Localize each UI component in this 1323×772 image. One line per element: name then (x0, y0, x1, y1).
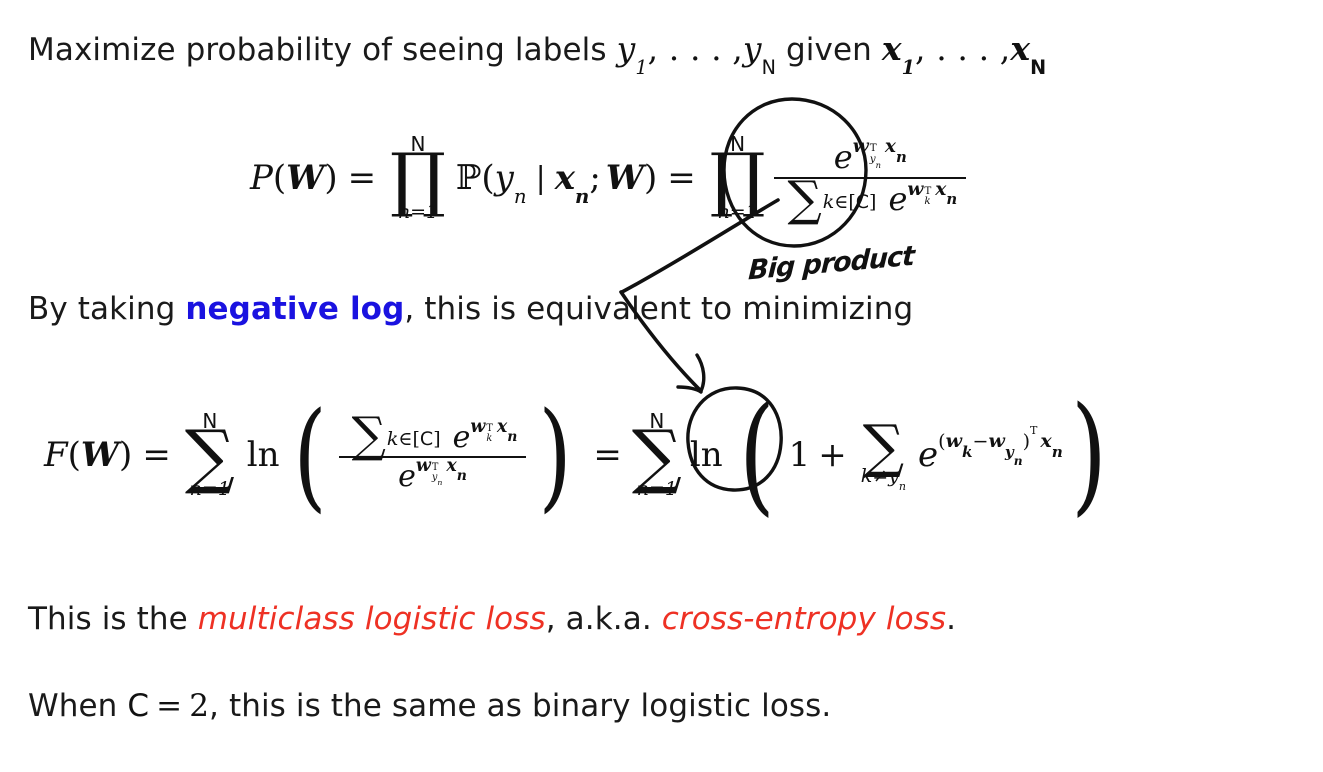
x-den2: xn (446, 456, 467, 476)
w-sub-sup-num: Tyn (870, 143, 881, 164)
x-num2: xn (497, 417, 518, 437)
w-index-yn2: yn (432, 473, 443, 483)
handwritten-note-big-product: Big product (747, 241, 914, 287)
sum-index-num2: k∈[C] (387, 430, 441, 449)
formula1-rparen-1: ) (324, 158, 337, 198)
exp-arg-final: (wk−wyn)Txn (938, 437, 1063, 452)
sum-lower-limit-2: n=1 (637, 480, 677, 499)
formula1-W-2: W (606, 158, 644, 198)
ln-operator-2: ln (690, 435, 723, 475)
w-k-final: wk (946, 430, 973, 452)
x-num: xn (885, 136, 907, 157)
product-lower-limit-2: n=1 (717, 203, 757, 222)
sub-yn-final: yn (1005, 443, 1023, 461)
formula1-semicolon: ; (589, 158, 600, 198)
value-two: 2 (189, 688, 209, 724)
sym-y1: y1 (617, 29, 648, 68)
formula-likelihood: P ( W ) = N ∏ n=1 ℙ ( yn | xn ; W ) = N … (250, 118, 971, 238)
formula2-lparen-1: ( (68, 435, 81, 475)
line2-text-pre: By taking (28, 291, 185, 327)
big-lparen-1: ( (293, 420, 326, 491)
emphasis-negative-log: negative log (185, 291, 404, 327)
slide-canvas: Maximize probability of seeing labels y1… (0, 0, 1323, 772)
formula1-lhs-P: P (250, 158, 273, 198)
formula-multiclass-logistic-loss: F ( W ) = N ∑ n=1 ln ( ∑ k∈[C] ewTkxn ew… (44, 395, 1115, 515)
constant-one: 1 (789, 435, 811, 475)
softmax-fraction: ewTynxn ∑ k∈[C] ewTkxn (774, 137, 966, 219)
line-loss-names: This is the multiclass logistic loss, a.… (28, 602, 956, 638)
line4-condition: C=2 (127, 688, 209, 724)
sum-operator-1: N ∑ n=1 (185, 411, 235, 500)
product-glyph-2: ∏ (710, 152, 766, 207)
formula1-equals-1: = (348, 158, 377, 198)
line3-text-pre: This is the (28, 601, 198, 637)
log-ratio-denominator: ewTynxn (389, 458, 476, 495)
x-den: xn (935, 179, 957, 200)
exp-arg-den2: wTynxn (416, 464, 467, 484)
formula2-equals-2: = (593, 435, 622, 475)
formula1-rparen-2: ) (644, 158, 657, 198)
w-sub-sup-den: Tk (924, 186, 931, 207)
x-final: xn (1040, 430, 1062, 452)
inner-sum-glyph: ∑ (863, 424, 904, 469)
sym-x1: x1 (882, 29, 915, 68)
product-operator-1: N ∏ n=1 (390, 134, 446, 223)
formula1-lparen-1: ( (273, 158, 286, 198)
line-binary-case: When C=2, this is the same as binary log… (28, 689, 831, 725)
ln-operator-1: ln (247, 435, 280, 475)
line3-text-end: . (946, 601, 956, 637)
plus-sign: + (818, 435, 847, 475)
exp-base-final: e (918, 435, 938, 475)
sum-glyph-num2: ∑ (352, 416, 386, 454)
line1-text-mid: given (776, 32, 882, 68)
exp-arg-num2: wTkxn (470, 425, 517, 445)
formula2-lhs-F: F (44, 435, 68, 475)
exp-arg-num: wTynxn (853, 144, 907, 165)
formula1-equals-2: = (667, 158, 696, 198)
formula2-W-1: W (81, 435, 119, 475)
sym-xN: xN (1010, 29, 1046, 68)
exp-base-den2: e (398, 459, 416, 494)
formula2-equals-1: = (142, 435, 171, 475)
sum-glyph-den: ∑ (787, 180, 821, 218)
sym-dots-y: , . . . , (648, 29, 743, 68)
softmax-denominator: ∑ k∈[C] ewTkxn (774, 179, 966, 219)
ink-annotation-layer (0, 0, 1323, 772)
line4-text-post: , this is the same as binary logistic lo… (209, 688, 831, 724)
formula1-lparen-2: ( (481, 158, 494, 198)
sym-yN: yN (743, 29, 776, 68)
sum-operator-2: N ∑ n=1 (632, 411, 682, 500)
numerator-sum-operator: ∑ k∈[C] (352, 416, 441, 454)
sum-glyph-2: ∑ (632, 429, 682, 484)
big-rparen-1: ) (539, 420, 572, 491)
sum-lower-limit-1: n=1 (190, 480, 230, 499)
product-operator-2: N ∏ n=1 (710, 134, 766, 223)
inner-sum-operator: ∑ k≠yn (861, 424, 906, 485)
sym-xn-1: xn (555, 158, 590, 198)
formula2-rparen-1: ) (119, 435, 132, 475)
line1-text-pre: Maximize probability of seeing labels (28, 32, 617, 68)
line-negative-log: By taking negative log, this is equivale… (28, 292, 913, 328)
sym-yn-1: yn (495, 158, 527, 198)
sum-glyph-1: ∑ (185, 429, 235, 484)
inner-sum-index: k≠yn (861, 467, 906, 486)
line2-text-post: , this is equivalent to minimizing (404, 291, 913, 327)
conditional-bar-1: | (536, 161, 546, 196)
line1-inputs-x: x1, . . . ,xN (882, 29, 1046, 68)
big-rparen-2: ) (1071, 417, 1107, 494)
softmax-numerator: ewTynxn (825, 137, 916, 177)
sym-dots-x: , . . . , (915, 29, 1010, 68)
log-ratio-fraction: ∑ k∈[C] ewTkxn ewTynxn (339, 415, 527, 494)
sum-index-den: k∈[C] (823, 193, 877, 212)
formula1-W-1: W (286, 158, 324, 198)
w-sub-sup-den2: Tyn (432, 463, 443, 483)
big-lparen-2: ( (739, 417, 775, 494)
emphasis-cross-entropy-loss: cross-entropy loss (662, 601, 946, 637)
exp-arg-den: wTkxn (907, 187, 957, 208)
blackboard-P-1: ℙ (456, 158, 482, 198)
line-maximize-probability: Maximize probability of seeing labels y1… (28, 30, 1046, 69)
line4-text-pre: When (28, 688, 127, 724)
w-sub-sup-num2: Tk (486, 424, 493, 444)
denominator-sum-operator: ∑ k∈[C] (787, 180, 876, 218)
exp-base-num: e (834, 138, 853, 176)
log-ratio-numerator: ∑ k∈[C] ewTkxn (339, 415, 527, 455)
w-yn-final: wyn (988, 430, 1022, 452)
exp-base-num2: e (453, 420, 471, 455)
exp-base-den: e (888, 180, 907, 218)
line3-text-mid: , a.k.a. (546, 601, 662, 637)
product-glyph-1: ∏ (390, 152, 446, 207)
line1-labels-y: y1, . . . ,yN (617, 29, 777, 68)
emphasis-multiclass-logistic-loss: multiclass logistic loss (198, 601, 546, 637)
product-lower-limit-1: n=1 (398, 203, 438, 222)
arrowhead-barb-icon (697, 355, 704, 391)
w-index-yn: yn (870, 154, 881, 165)
arrowhead-icon (678, 387, 701, 392)
